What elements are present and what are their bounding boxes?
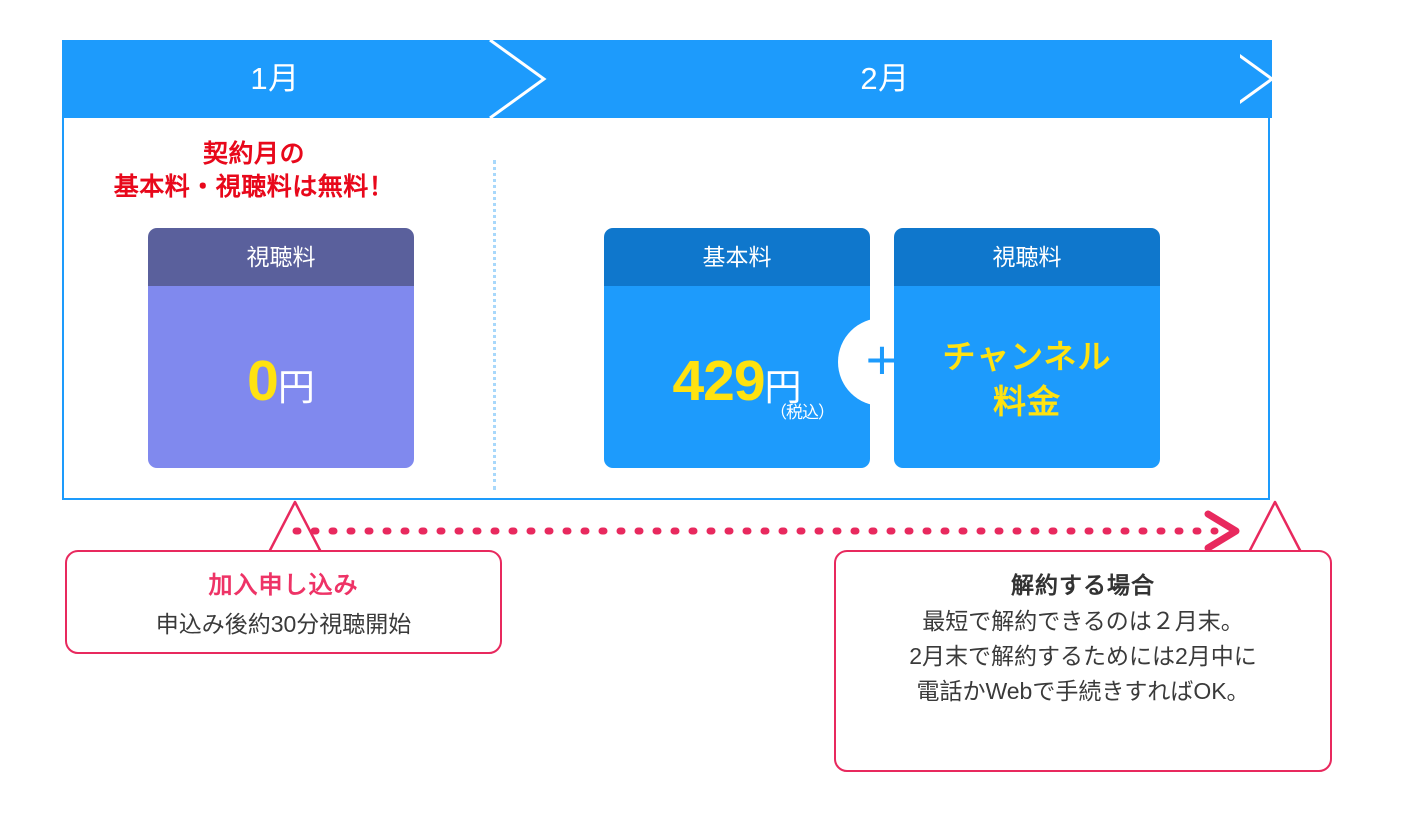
price-card-jan-viewing-title: 視聴料	[247, 244, 316, 270]
price-card-feb-base-body: 429円 （税込）	[604, 286, 870, 468]
price-unit: 円	[278, 367, 315, 408]
price-card-jan-viewing-header: 視聴料	[148, 228, 414, 286]
price-card-feb-channel: 視聴料 チャンネル 料金	[894, 228, 1160, 468]
price-card-feb-base: 基本料 429円 （税込）	[604, 228, 870, 468]
channel-fee-text: チャンネル 料金	[894, 334, 1160, 424]
free-month-note: 契約月の 基本料・視聴料は無料！	[64, 138, 444, 204]
infographic-root: 1月 2月 契約月の 基本料・視聴料は無料！ 視聴料 0円 基本料 429円 （…	[0, 0, 1412, 822]
price-card-feb-channel-header: 視聴料	[894, 228, 1160, 286]
timeline-dotted-arrow-icon	[290, 508, 1250, 554]
callout-signup-title: 加入申し込み	[67, 565, 500, 600]
price-amount: 429	[672, 349, 764, 413]
callout-cancel-line2: 2月末で解約するためには2月中に	[836, 639, 1330, 674]
price-value-line: 0円	[148, 348, 414, 414]
callout-cancel: 解約する場合 最短で解約できるのは２月末。 2月末で解約するためには2月中に 電…	[834, 550, 1332, 772]
callout-signup: 加入申し込み 申込み後約30分視聴開始	[65, 550, 502, 654]
price-tax-note: （税込）	[770, 398, 834, 423]
month-label-1: 1月	[175, 58, 375, 100]
callout-cancel-body: 最短で解約できるのは２月末。 2月末で解約するためには2月中に 電話かWebで手…	[836, 604, 1330, 709]
price-card-feb-base-header: 基本料	[604, 228, 870, 286]
price-card-feb-channel-title: 視聴料	[993, 244, 1062, 270]
free-month-note-line2: 基本料・視聴料は無料！	[64, 171, 444, 204]
callout-signup-body: 申込み後約30分視聴開始	[67, 605, 500, 639]
price-card-feb-base-title: 基本料	[703, 244, 772, 270]
callout-cancel-line3: 電話かWebで手続きすればOK。	[836, 674, 1330, 709]
month-divider-dotted	[493, 160, 496, 490]
month-label-2: 2月	[785, 58, 985, 100]
channel-fee-text-line2: 料金	[894, 379, 1160, 424]
price-card-jan-viewing: 視聴料 0円	[148, 228, 414, 468]
channel-fee-text-line1: チャンネル	[894, 334, 1160, 379]
callout-cancel-title: 解約する場合	[836, 566, 1330, 600]
callout-cancel-line1: 最短で解約できるのは２月末。	[836, 604, 1330, 639]
price-card-feb-channel-body: チャンネル 料金	[894, 286, 1160, 468]
free-month-note-line1: 契約月の	[64, 138, 444, 171]
price-card-jan-viewing-body: 0円	[148, 286, 414, 468]
price-amount: 0	[247, 349, 278, 413]
